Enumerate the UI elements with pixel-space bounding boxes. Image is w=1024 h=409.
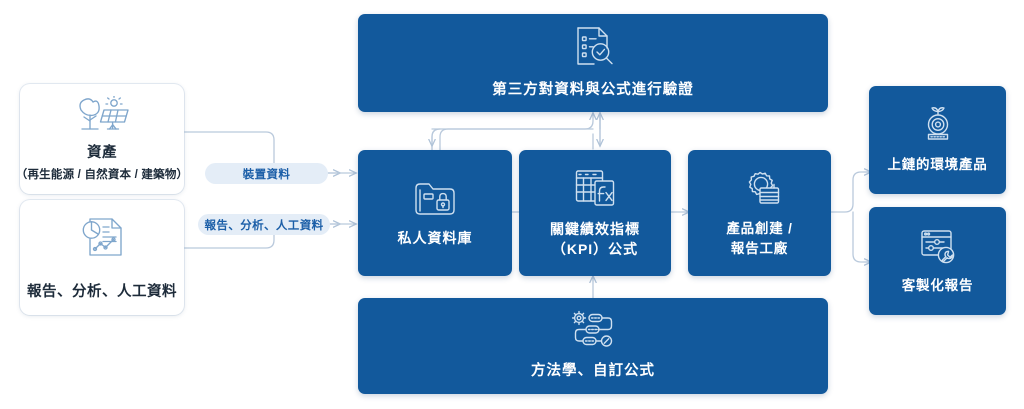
connector-bus-corner [432,129,440,150]
source-subtitle: （再生能源 / 自然資本 / 建築物） [16,166,188,182]
process-box-private-database[interactable]: 私人資料庫 [358,150,512,276]
sprout-blockchain-icon [917,105,959,145]
source-card-reports[interactable]: 報告、分析、人工資料 [20,200,184,315]
dashboard-settings-wrench-icon [917,226,959,266]
document-magnifier-check-icon [570,24,616,70]
source-title: 報告、分析、人工資料 [27,283,177,303]
flow-label-text: 裝置資料 [243,166,291,182]
output-box-onchain-environmental-product[interactable]: 上鏈的環境產品 [869,86,1006,194]
tree-solar-panel-icon [73,96,131,136]
source-title: 資產 [87,144,117,164]
report-analytics-document-icon [76,213,128,261]
output-box-label: 客製化報告 [902,276,974,296]
diagram-canvas: 資產 （再生能源 / 自然資本 / 建築物） 報告、分析、人工資料 裝置資料 報… [0,0,1024,409]
process-box-label: 私人資料庫 [398,228,473,248]
process-box-kpi-formula[interactable]: 關鍵績效指標 （KPI）公式 [519,150,671,276]
flow-label-text: 報告、分析、人工資料 [205,217,324,233]
spreadsheet-fx-icon [573,167,617,209]
process-box-label: 產品創建 / 報告工廠 [726,219,792,258]
gear-factory-icon [738,167,782,209]
output-box-customized-report[interactable]: 客製化報告 [869,207,1006,315]
folder-lock-icon [412,178,458,218]
process-box-methodology[interactable]: 方法學、自訂公式 [358,298,828,394]
process-box-label: 第三方對資料與公式進行驗證 [492,80,694,101]
connector-verification-down-to-database [432,129,593,146]
flow-label-report-analysis: 報告、分析、人工資料 [198,214,330,235]
process-box-product-report-factory[interactable]: 產品創建 / 報告工廠 [688,150,831,276]
connector-factory-to-onchain [831,172,871,212]
connector-bus-to-verification [440,113,593,150]
workflow-gear-check-icon [569,309,617,351]
process-box-verification[interactable]: 第三方對資料與公式進行驗證 [358,14,828,112]
process-box-label: 方法學、自訂公式 [531,361,655,382]
process-box-label: 關鍵績效指標 （KPI）公式 [550,219,640,260]
flow-label-device-data: 裝置資料 [205,163,328,184]
output-box-label: 上鏈的環境產品 [887,155,987,175]
source-card-assets[interactable]: 資產 （再生能源 / 自然資本 / 建築物） [20,84,184,194]
